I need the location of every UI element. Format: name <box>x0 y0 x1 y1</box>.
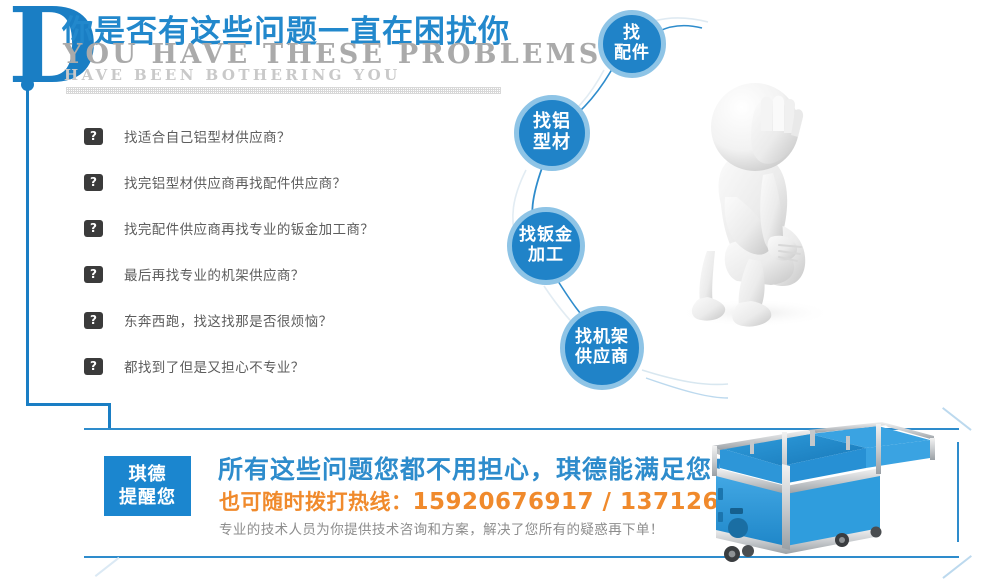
flow-node-line: 找 <box>614 24 650 44</box>
flow-node-line: 供应商 <box>575 348 629 368</box>
brand-badge-line2: 提醒您 <box>119 486 176 509</box>
question-mark-icon: ? <box>84 358 103 375</box>
question-mark-icon: ? <box>84 312 103 329</box>
cta-headline: 所有这些问题您都不用担心，琪德能满足您！ <box>218 450 738 486</box>
question-mark-icon: ? <box>84 266 103 283</box>
question-mark-icon: ? <box>84 174 103 191</box>
hatched-divider <box>66 87 501 94</box>
cta-hotline-label: 也可随时拨打热线： <box>219 490 413 514</box>
flow-node-line: 找机架 <box>575 328 629 348</box>
brand-reminder-badge: 琪德 提醒您 <box>104 456 191 516</box>
panel-corner-diagonal-top-right <box>942 407 971 430</box>
product-photo-workbench <box>690 418 940 577</box>
list-item: ? 找适合自己铝型材供应商？ <box>84 126 464 172</box>
infographic-page: D 你是否有这些问题一直在困扰你 YOU HAVE THESE PROBLEMS… <box>0 0 982 579</box>
flow-node-line: 配件 <box>614 44 650 64</box>
subtitle-en-line2: HAVE BEEN BOTHERING YOU <box>64 66 401 84</box>
bracket-horizontal <box>26 403 111 406</box>
question-mark-icon: ? <box>84 128 103 145</box>
flow-node-line: 型材 <box>533 133 571 154</box>
list-item: ? 最后再找专业的机架供应商？ <box>84 264 464 310</box>
brand-badge-line1: 琪德 <box>129 463 167 486</box>
list-item: ? 找完配件供应商再找专业的钣金加工商？ <box>84 218 464 264</box>
list-item: ? 都找到了但是又担心不专业？ <box>84 356 464 402</box>
list-item: ? 找完铝型材供应商再找配件供应商？ <box>84 172 464 218</box>
flow-node-line: 加工 <box>519 246 573 266</box>
list-item-label: 找适合自己铝型材供应商？ <box>124 126 291 146</box>
list-item-label: 东奔西跑，找这找那是否很烦恼？ <box>124 310 333 330</box>
flow-node-line: 找钣金 <box>519 226 573 246</box>
list-item: ? 东奔西跑，找这找那是否很烦恼？ <box>84 310 464 356</box>
list-item-label: 找完配件供应商再找专业的钣金加工商？ <box>124 218 374 238</box>
bracket-vertical-lower <box>26 344 29 406</box>
frustrated-person-illustration <box>655 55 855 359</box>
list-item-label: 最后再找专业的机架供应商？ <box>124 264 305 284</box>
flow-node-find-sheet-metal: 找钣金 加工 <box>507 207 585 285</box>
problem-list: ? 找适合自己铝型材供应商？ ? 找完铝型材供应商再找配件供应商？ ? 找完配件… <box>84 126 464 402</box>
panel-corner-diagonal-bottom-left <box>95 557 120 577</box>
panel-corner-diagonal-bottom-right <box>942 555 971 578</box>
bracket-riser <box>108 404 111 430</box>
question-mark-icon: ? <box>84 220 103 237</box>
flow-node-find-aluminum-profile: 找铝 型材 <box>514 95 590 171</box>
panel-border-right <box>957 442 959 542</box>
flow-node-line: 找铝 <box>533 112 571 133</box>
bracket-vertical-upper <box>26 84 29 346</box>
cta-note: 专业的技术人员为你提供技术咨询和方案，解决了您所有的疑惑再下单！ <box>219 518 664 538</box>
list-item-label: 找完铝型材供应商再找配件供应商？ <box>124 172 346 192</box>
list-item-label: 都找到了但是又担心不专业？ <box>124 356 305 376</box>
flow-node-find-frame-supplier: 找机架 供应商 <box>560 306 644 390</box>
